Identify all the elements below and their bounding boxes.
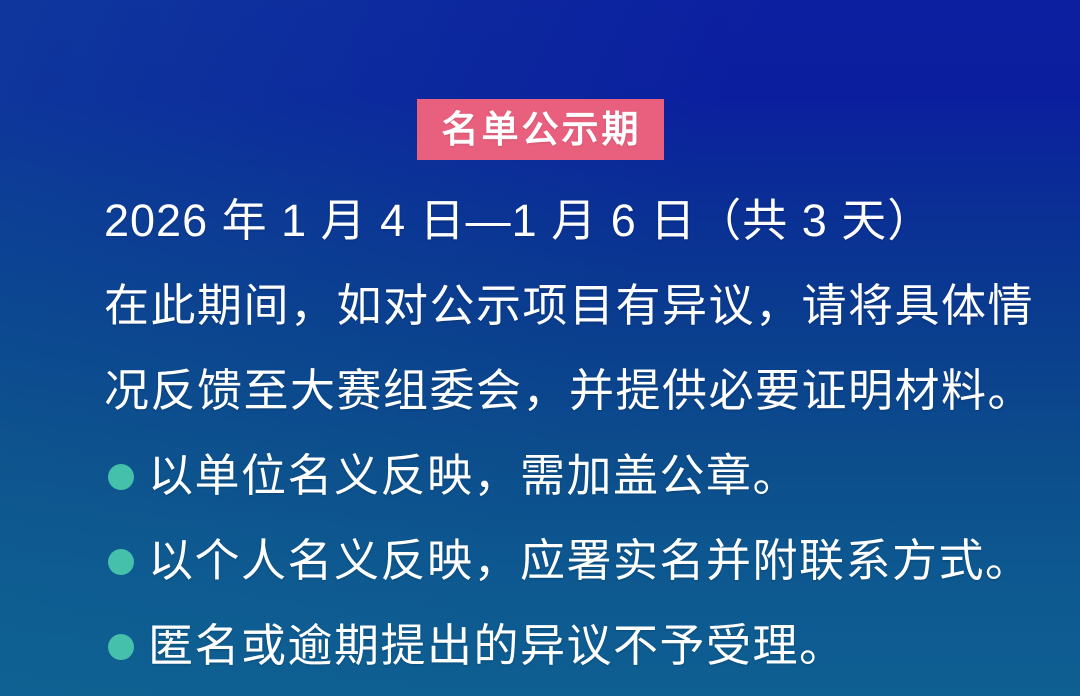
bullet-item-3-label: 匿名或逾期提出的异议不予受理。 (148, 603, 846, 688)
bullet-dot-icon (108, 549, 134, 575)
publicity-date-range: 2026 年 1 月 4 日—1 月 6 日（共 3 天） (104, 178, 1004, 263)
announcement-body: 2026 年 1 月 4 日—1 月 6 日（共 3 天） 在此期间，如对公示项… (104, 178, 1004, 688)
bullet-dot-icon (108, 634, 134, 660)
bullet-item-1-label: 以单位名义反映，需加盖公章。 (148, 433, 799, 518)
section-title-badge: 名单公示期 (417, 99, 664, 160)
bullet-item-2: 以个人名义反映，应署实名并附联系方式。 (104, 518, 1004, 603)
bullet-item-1: 以单位名义反映，需加盖公章。 (104, 433, 1004, 518)
announcement-poster: 名单公示期 2026 年 1 月 4 日—1 月 6 日（共 3 天） 在此期间… (0, 0, 1080, 696)
bullet-item-3: 匿名或逾期提出的异议不予受理。 (104, 603, 1004, 688)
badge-row: 名单公示期 (0, 99, 1080, 160)
bullet-dot-icon (108, 464, 134, 490)
bullet-item-2-label: 以个人名义反映，应署实名并附联系方式。 (148, 518, 1032, 603)
paragraph-line-1: 在此期间，如对公示项目有异议，请将具体情 (104, 263, 1004, 348)
paragraph-line-2: 况反馈至大赛组委会，并提供必要证明材料。 (104, 348, 1004, 433)
